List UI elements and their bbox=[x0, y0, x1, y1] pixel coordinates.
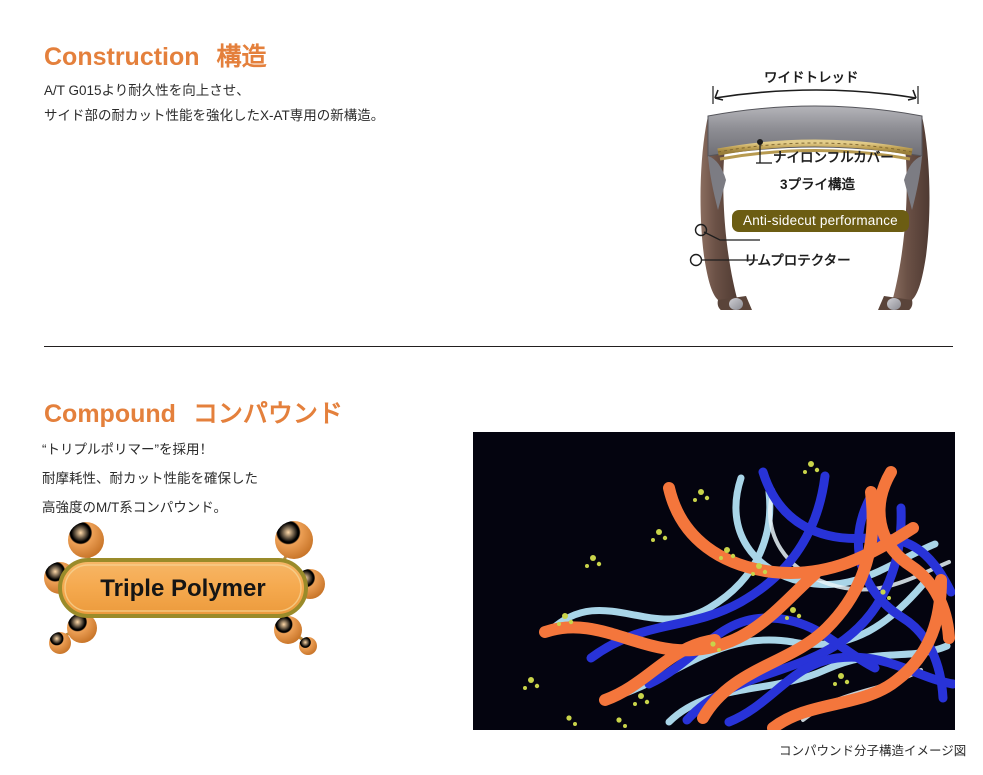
molecule-sphere bbox=[299, 637, 317, 655]
page-root: Construction 構造 A/T G015より耐久性を向上させ、 サイド部… bbox=[0, 0, 983, 775]
molecule-sphere bbox=[49, 632, 71, 654]
bead-core-left bbox=[729, 298, 743, 310]
triple-polymer-graphic: Triple Polymer bbox=[38, 518, 328, 658]
rim-protector-callout-ring bbox=[691, 255, 702, 266]
molecule-sphere bbox=[275, 521, 313, 559]
compound-photo-svg bbox=[473, 432, 955, 730]
nylon-full-cover-label: ナイロンフルカバー bbox=[773, 146, 894, 166]
compound-body-line-3: 高強度のM/T系コンパウンド。 bbox=[42, 495, 227, 520]
compound-body-line-2: 耐摩耗性、耐カット性能を確保した bbox=[42, 466, 258, 491]
triple-polymer-svg: Triple Polymer bbox=[38, 518, 328, 658]
compound-title-jp: コンパウンド bbox=[193, 400, 343, 428]
molecule-sphere bbox=[68, 522, 104, 558]
wide-tread-dimension-arrow bbox=[713, 86, 918, 104]
compound-title-en: Compound bbox=[44, 400, 176, 428]
wide-tread-label: ワイドトレッド bbox=[764, 66, 859, 86]
construction-section-title: Construction 構造 bbox=[44, 37, 267, 73]
construction-title-jp: 構造 bbox=[217, 43, 267, 71]
compound-body-line-1: “トリプルポリマー”を採用！ bbox=[42, 437, 213, 462]
compound-photo bbox=[473, 432, 955, 730]
construction-title-en: Construction bbox=[44, 43, 200, 71]
construction-body-line-1: A/T G015より耐久性を向上させ、 bbox=[44, 78, 250, 103]
molecule-sphere bbox=[274, 616, 302, 644]
three-ply-structure-label: 3プライ構造 bbox=[780, 173, 855, 193]
anti-sidecut-performance-badge: Anti-sidecut performance bbox=[732, 210, 909, 232]
triple-polymer-pill-label: Triple Polymer bbox=[100, 575, 265, 602]
nylon-cover-callout-dot bbox=[757, 139, 763, 145]
bead-core-right bbox=[887, 298, 901, 310]
compound-photo-caption: コンパウンド分子構造イメージ図 bbox=[779, 740, 966, 759]
section-divider bbox=[44, 346, 953, 347]
construction-body-line-2: サイド部の耐カット性能を強化したX-AT専用の新構造。 bbox=[44, 103, 384, 128]
compound-section-title: Compound コンパウンド bbox=[44, 394, 343, 430]
rim-protector-label: リムプロテクター bbox=[744, 249, 851, 269]
